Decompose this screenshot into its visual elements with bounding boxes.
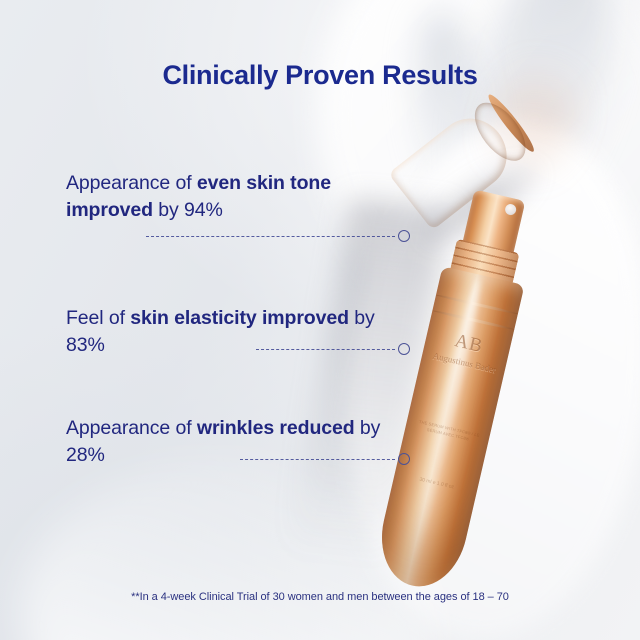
claim-prefix: Appearance of — [66, 172, 197, 194]
leader-line-wrinkles-reduced — [240, 453, 410, 465]
leader-dash — [146, 236, 395, 237]
leader-endpoint-circle — [398, 453, 410, 465]
claim-prefix: Appearance of — [66, 417, 197, 439]
claim-prefix: Feel of — [66, 307, 130, 329]
page-title: Clinically Proven Results — [0, 60, 640, 91]
claim-emphasis: wrinkles reduced — [197, 417, 355, 439]
leader-line-skin-elasticity — [256, 343, 410, 355]
claim-suffix: by 94% — [153, 199, 223, 221]
claim-emphasis: skin elasticity improved — [130, 307, 349, 329]
claim-even-skin-tone: Appearance of even skin tone improved by… — [66, 170, 416, 224]
leader-dash — [240, 459, 395, 460]
clinical-trial-footnote: **In a 4-week Clinical Trial of 30 women… — [0, 591, 640, 603]
leader-endpoint-circle — [398, 343, 410, 355]
leader-line-even-skin-tone — [146, 230, 410, 242]
marketing-creative: AB Augustinus Bader THE SERUM WITH TFC8®… — [0, 0, 640, 640]
leader-endpoint-circle — [398, 230, 410, 242]
leader-dash — [256, 349, 395, 350]
